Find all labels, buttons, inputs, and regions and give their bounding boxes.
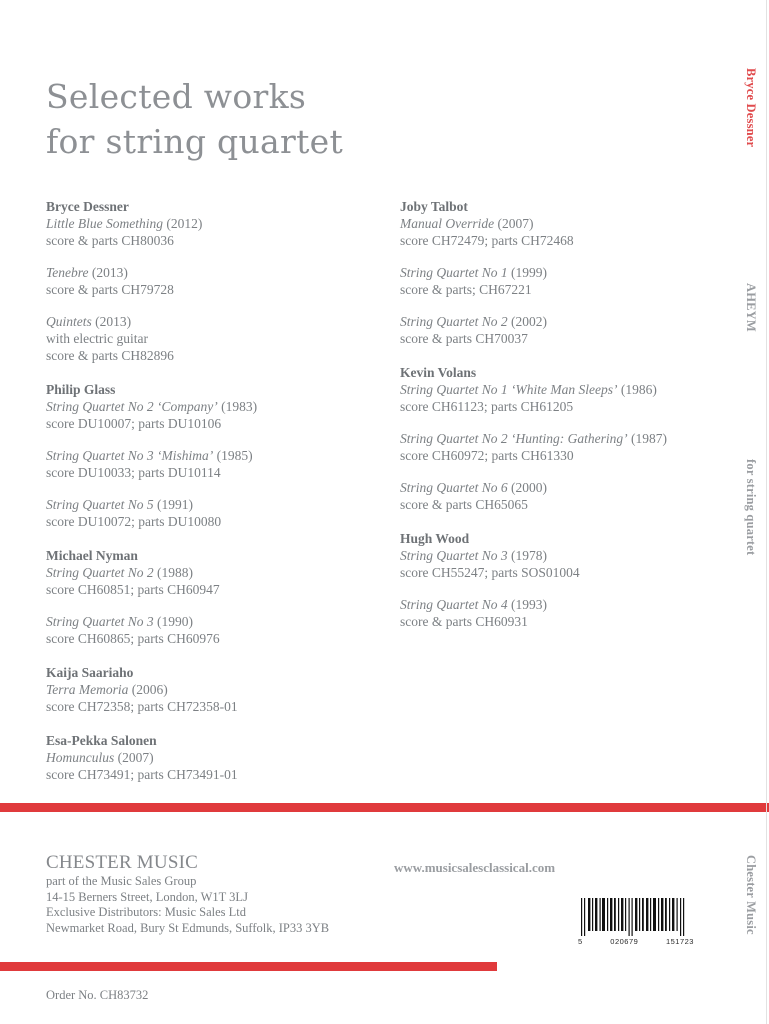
work-entry: Homunculus (2007)score CH73491; parts CH…: [46, 749, 376, 783]
work-title-name: String Quartet No 3: [400, 548, 508, 563]
work-codes: score & parts CH70037: [400, 330, 730, 347]
composer-block: Kaija SaariahoTerra Memoria (2006)score …: [46, 664, 376, 715]
work-title-year: (1990): [157, 614, 193, 629]
work-title: String Quartet No 1 (1999): [400, 264, 730, 281]
work-title-name: String Quartet No 2: [46, 565, 154, 580]
barcode-right-group: 151723: [666, 937, 694, 946]
work-title: String Quartet No 2 (1988): [46, 564, 376, 581]
work-title-year: (2000): [511, 480, 547, 495]
work-title-name: Terra Memoria: [46, 682, 128, 697]
work-title: Quintets (2013): [46, 313, 376, 330]
work-codes: score CH73491; parts CH73491-01: [46, 766, 376, 783]
composer-name: Hugh Wood: [400, 530, 730, 547]
spine-label-publisher: Chester Music: [743, 855, 758, 935]
composer-name: Esa-Pekka Salonen: [46, 732, 376, 749]
work-title: Tenebre (2013): [46, 264, 376, 281]
composer-name: Michael Nyman: [46, 547, 376, 564]
work-title: Little Blue Something (2012): [46, 215, 376, 232]
work-codes: score CH60972; parts CH61330: [400, 447, 730, 464]
work-title-name: Homunculus: [46, 750, 114, 765]
work-title-name: String Quartet No 3 ‘Mishima’: [46, 448, 213, 463]
work-title-year: (1985): [217, 448, 253, 463]
composer-block: Kevin VolansString Quartet No 1 ‘White M…: [400, 364, 730, 513]
work-title-year: (2006): [132, 682, 168, 697]
barcode-digits: 5 020679 151723: [578, 937, 694, 946]
composer-block: Philip GlassString Quartet No 2 ‘Company…: [46, 381, 376, 530]
work-entry: Manual Override (2007)score CH72479; par…: [400, 215, 730, 249]
publisher-address-line: Exclusive Distributors: Music Sales Ltd: [46, 905, 376, 921]
red-divider-full: [0, 803, 769, 812]
barcode-bars: [578, 898, 690, 936]
work-entry: String Quartet No 1 (1999)score & parts;…: [400, 264, 730, 298]
composer-block: Hugh WoodString Quartet No 3 (1978)score…: [400, 530, 730, 630]
work-title: String Quartet No 4 (1993): [400, 596, 730, 613]
work-title: String Quartet No 3 (1978): [400, 547, 730, 564]
work-title-name: String Quartet No 1: [400, 265, 508, 280]
composer-name: Kevin Volans: [400, 364, 730, 381]
red-divider-short: [0, 962, 497, 971]
work-title-name: String Quartet No 4: [400, 597, 508, 612]
website-url[interactable]: www.musicsalesclassical.com: [394, 860, 555, 876]
work-codes: score CH72479; parts CH72468: [400, 232, 730, 249]
work-title-year: (2013): [92, 265, 128, 280]
work-entry: String Quartet No 2 ‘Company’ (1983)scor…: [46, 398, 376, 432]
composer-name: Bryce Dessner: [46, 198, 376, 215]
work-title-year: (2013): [95, 314, 131, 329]
work-title-name: Little Blue Something: [46, 216, 163, 231]
publisher-address-line: Newmarket Road, Bury St Edmunds, Suffolk…: [46, 921, 376, 937]
work-title-name: String Quartet No 2: [400, 314, 508, 329]
work-entry: String Quartet No 2 (2002)score & parts …: [400, 313, 730, 347]
work-codes: score CH61123; parts CH61205: [400, 398, 730, 415]
composer-name: Philip Glass: [46, 381, 376, 398]
work-title-name: String Quartet No 1 ‘White Man Sleeps’: [400, 382, 617, 397]
work-codes: score CH60865; parts CH60976: [46, 630, 376, 647]
work-entry: String Quartet No 4 (1993)score & parts …: [400, 596, 730, 630]
work-title: String Quartet No 3 ‘Mishima’ (1985): [46, 447, 376, 464]
work-codes: score CH72358; parts CH72358-01: [46, 698, 376, 715]
work-title-year: (1999): [511, 265, 547, 280]
publisher-block: CHESTER MUSIC part of the Music Sales Gr…: [46, 852, 376, 936]
work-codes: score & parts CH79728: [46, 281, 376, 298]
work-title-year: (2012): [166, 216, 202, 231]
page-title-line-1: Selected works: [46, 74, 466, 119]
work-title-year: (1993): [511, 597, 547, 612]
barcode-left-group: 020679: [610, 937, 638, 946]
publisher-address-line: part of the Music Sales Group: [46, 874, 376, 890]
work-title: Homunculus (2007): [46, 749, 376, 766]
work-title: Manual Override (2007): [400, 215, 730, 232]
work-title: String Quartet No 5 (1991): [46, 496, 376, 513]
work-title-year: (1988): [157, 565, 193, 580]
work-entry: String Quartet No 5 (1991)score DU10072;…: [46, 496, 376, 530]
barcode: 5 020679 151723: [578, 898, 698, 946]
work-codes: score & parts CH65065: [400, 496, 730, 513]
work-entry: Terra Memoria (2006)score CH72358; parts…: [46, 681, 376, 715]
composer-block: Bryce DessnerLittle Blue Something (2012…: [46, 198, 376, 364]
spine-label-subtitle: for string quartet: [743, 459, 758, 555]
work-entry: String Quartet No 1 ‘White Man Sleeps’ (…: [400, 381, 730, 415]
work-title-name: String Quartet No 5: [46, 497, 154, 512]
composer-block: Michael NymanString Quartet No 2 (1988)s…: [46, 547, 376, 647]
work-title-name: String Quartet No 6: [400, 480, 508, 495]
work-entry: String Quartet No 2 ‘Hunting: Gathering’…: [400, 430, 730, 464]
spine-label-composer: Bryce Dessner: [743, 68, 758, 147]
work-title: String Quartet No 2 (2002): [400, 313, 730, 330]
work-title-name: Tenebre: [46, 265, 89, 280]
work-codes: score DU10007; parts DU10106: [46, 415, 376, 432]
work-title: String Quartet No 1 ‘White Man Sleeps’ (…: [400, 381, 730, 398]
composer-name: Kaija Saariaho: [46, 664, 376, 681]
work-title: String Quartet No 2 ‘Company’ (1983): [46, 398, 376, 415]
composer-block: Joby TalbotManual Override (2007)score C…: [400, 198, 730, 347]
work-codes: score & parts CH80036: [46, 232, 376, 249]
work-entry: String Quartet No 3 (1990)score CH60865;…: [46, 613, 376, 647]
work-title-year: (1983): [221, 399, 257, 414]
work-title-year: (1987): [631, 431, 667, 446]
works-column-right: Joby TalbotManual Override (2007)score C…: [400, 198, 730, 630]
work-title-name: String Quartet No 2 ‘Company’: [46, 399, 218, 414]
work-title-name: Manual Override: [400, 216, 494, 231]
work-title: String Quartet No 2 ‘Hunting: Gathering’…: [400, 430, 730, 447]
work-title-year: (2007): [497, 216, 533, 231]
work-title-name: String Quartet No 2 ‘Hunting: Gathering’: [400, 431, 628, 446]
work-codes: score DU10072; parts DU10080: [46, 513, 376, 530]
work-title-year: (1991): [157, 497, 193, 512]
work-title-name: String Quartet No 3: [46, 614, 154, 629]
work-codes: score & parts; CH67221: [400, 281, 730, 298]
spine-label-work: AHEYM: [743, 283, 758, 332]
work-entry: String Quartet No 6 (2000)score & parts …: [400, 479, 730, 513]
work-codes: score DU10033; parts DU10114: [46, 464, 376, 481]
order-number: Order No. CH83732: [46, 988, 148, 1003]
work-entry: String Quartet No 3 ‘Mishima’ (1985)scor…: [46, 447, 376, 481]
work-entry: String Quartet No 3 (1978)score CH55247;…: [400, 547, 730, 581]
work-title: Terra Memoria (2006): [46, 681, 376, 698]
work-title: String Quartet No 3 (1990): [46, 613, 376, 630]
work-title-name: Quintets: [46, 314, 92, 329]
page-title-line-2: for string quartet: [46, 119, 466, 164]
work-codes: score & parts CH82896: [46, 347, 376, 364]
work-title-year: (1986): [621, 382, 657, 397]
page-title: Selected works for string quartet: [46, 74, 466, 164]
work-codes: score CH60851; parts CH60947: [46, 581, 376, 598]
work-entry: Quintets (2013)with electric guitarscore…: [46, 313, 376, 364]
composer-block: Esa-Pekka SalonenHomunculus (2007)score …: [46, 732, 376, 783]
work-codes: score & parts CH60931: [400, 613, 730, 630]
work-title-year: (2007): [118, 750, 154, 765]
publisher-address-line: 14-15 Berners Street, London, W1T 3LJ: [46, 890, 376, 906]
works-column-left: Bryce DessnerLittle Blue Something (2012…: [46, 198, 376, 783]
work-title-year: (2002): [511, 314, 547, 329]
spine-fold-line: [766, 0, 767, 1024]
work-entry: Little Blue Something (2012)score & part…: [46, 215, 376, 249]
work-title: String Quartet No 6 (2000): [400, 479, 730, 496]
work-title-year: (1978): [511, 548, 547, 563]
work-entry: Tenebre (2013)score & parts CH79728: [46, 264, 376, 298]
work-note: with electric guitar: [46, 330, 376, 347]
composer-name: Joby Talbot: [400, 198, 730, 215]
back-cover-page: Selected works for string quartet Bryce …: [0, 0, 769, 1024]
work-entry: String Quartet No 2 (1988)score CH60851;…: [46, 564, 376, 598]
publisher-name: CHESTER MUSIC: [46, 852, 376, 874]
barcode-lead-digit: 5: [578, 937, 583, 946]
work-codes: score CH55247; parts SOS01004: [400, 564, 730, 581]
